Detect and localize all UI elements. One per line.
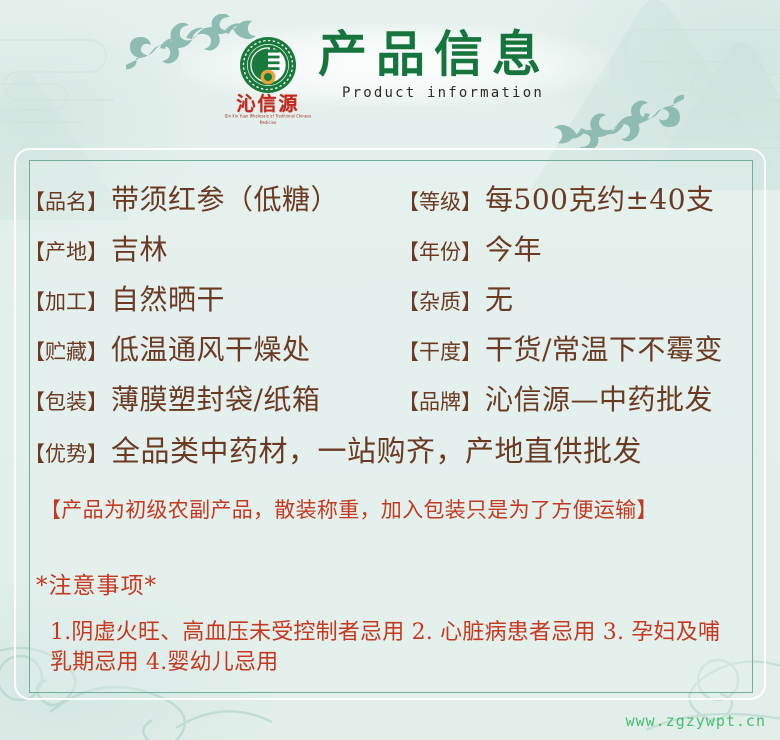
- spec-cell-packaging: 【包装】 薄膜塑封袋/纸箱: [24, 378, 398, 418]
- brand-name-cn: 沁信源: [222, 95, 314, 115]
- spec-value: 薄膜塑封袋/纸箱: [111, 378, 320, 418]
- spec-value: 带须红参（低糖）: [111, 178, 339, 218]
- page-title: 产品信息: [318, 30, 550, 80]
- spec-value: 无: [485, 278, 514, 318]
- spec-row-advantage: 【优势】 全品类中药材，一站购齐，产地直供批发: [24, 428, 760, 482]
- spec-label: 【年份】: [398, 236, 482, 266]
- spec-row: 【贮藏】 低温通风干燥处 【干度】 干货/常温下不霉变: [24, 328, 760, 378]
- spec-value: 全品类中药材，一站购齐，产地直供批发: [111, 428, 642, 470]
- spec-label: 【杂质】: [398, 286, 482, 316]
- spec-cell-storage: 【贮藏】 低温通风干燥处: [24, 328, 398, 368]
- spec-label: 【产地】: [24, 236, 108, 266]
- spec-row: 【包装】 薄膜塑封袋/纸箱 【品牌】 沁信源—中药批发: [24, 378, 760, 428]
- spec-label: 【品名】: [24, 186, 108, 216]
- page-subtitle: Product information: [342, 85, 550, 101]
- spec-cell-processing: 【加工】 自然晒干: [24, 278, 398, 318]
- brand-name-en: Qin Xin Yuan Wholesale of Traditional Ch…: [222, 114, 314, 126]
- spec-value: 每500克约±40支: [485, 178, 715, 218]
- spec-value: 沁信源—中药批发: [485, 378, 713, 418]
- cautions-heading: *注意事项*: [36, 566, 157, 600]
- spec-label: 【品牌】: [398, 386, 482, 416]
- spec-value: 吉林: [111, 228, 168, 268]
- site-watermark: www.zgzywpt.cn: [626, 712, 766, 730]
- page-header: 沁信源 Qin Xin Yuan Wholesale of Traditiona…: [0, 0, 780, 146]
- spec-row: 【品名】 带须红参（低糖） 【等级】 每500克约±40支: [24, 178, 760, 228]
- spec-label: 【等级】: [398, 186, 482, 216]
- spec-cell-brand: 【品牌】 沁信源—中药批发: [398, 378, 713, 418]
- spec-cell-product-name: 【品名】 带须红参（低糖）: [24, 178, 398, 218]
- spec-value: 今年: [485, 228, 542, 268]
- product-info-page: 沁信源 Qin Xin Yuan Wholesale of Traditiona…: [0, 0, 780, 740]
- company-seal-icon: [239, 36, 297, 94]
- spec-cell-grade: 【等级】 每500克约±40支: [398, 178, 715, 218]
- spec-row: 【加工】 自然晒干 【杂质】 无: [24, 278, 760, 328]
- product-spec-list: 【品名】 带须红参（低糖） 【等级】 每500克约±40支 【产地】 吉林 【年…: [24, 178, 760, 482]
- spec-row: 【产地】 吉林 【年份】 今年: [24, 228, 760, 278]
- spec-label: 【优势】: [24, 438, 108, 468]
- spec-label: 【贮藏】: [24, 336, 108, 366]
- packaging-disclaimer-note: 【产品为初级农副产品，散装称重，加入包装只是为了方便运输】: [40, 494, 750, 524]
- spec-cell-impurity: 【杂质】 无: [398, 278, 514, 318]
- cautions-body: 1.阴虚火旺、高血压未受控制者忌用 2. 心脏病患者忌用 3. 孕妇及哺乳期忌用…: [50, 618, 740, 677]
- spec-value: 干货/常温下不霉变: [485, 328, 723, 368]
- spec-value: 低温通风干燥处: [111, 328, 311, 368]
- spec-value: 自然晒干: [111, 278, 225, 318]
- spec-cell-advantage: 【优势】 全品类中药材，一站购齐，产地直供批发: [24, 428, 642, 470]
- page-title-block: 产品信息 Product information: [318, 30, 550, 101]
- brand-logo: 沁信源 Qin Xin Yuan Wholesale of Traditiona…: [222, 36, 314, 124]
- spec-cell-year: 【年份】 今年: [398, 228, 542, 268]
- spec-cell-origin: 【产地】 吉林: [24, 228, 398, 268]
- spec-cell-dryness: 【干度】 干货/常温下不霉变: [398, 328, 723, 368]
- spec-label: 【包装】: [24, 386, 108, 416]
- spec-label: 【干度】: [398, 336, 482, 366]
- spec-label: 【加工】: [24, 286, 108, 316]
